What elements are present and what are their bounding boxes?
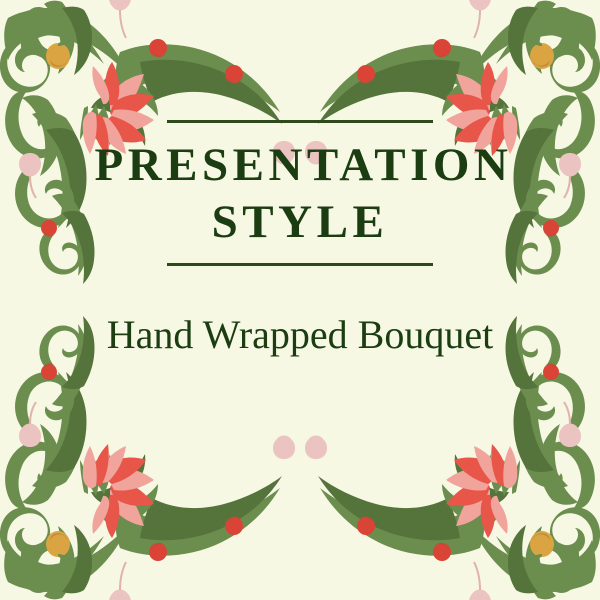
text-block: PRESENTATION STYLE Hand Wrapped Bouquet (0, 120, 600, 266)
page-subtitle: Hand Wrapped Bouquet (0, 312, 600, 358)
divider-top (167, 120, 433, 123)
divider-bottom (167, 263, 433, 266)
orange-bud (46, 39, 72, 69)
page-title: PRESENTATION STYLE (90, 137, 510, 251)
presentation-card: PRESENTATION STYLE Hand Wrapped Bouquet (0, 0, 600, 600)
